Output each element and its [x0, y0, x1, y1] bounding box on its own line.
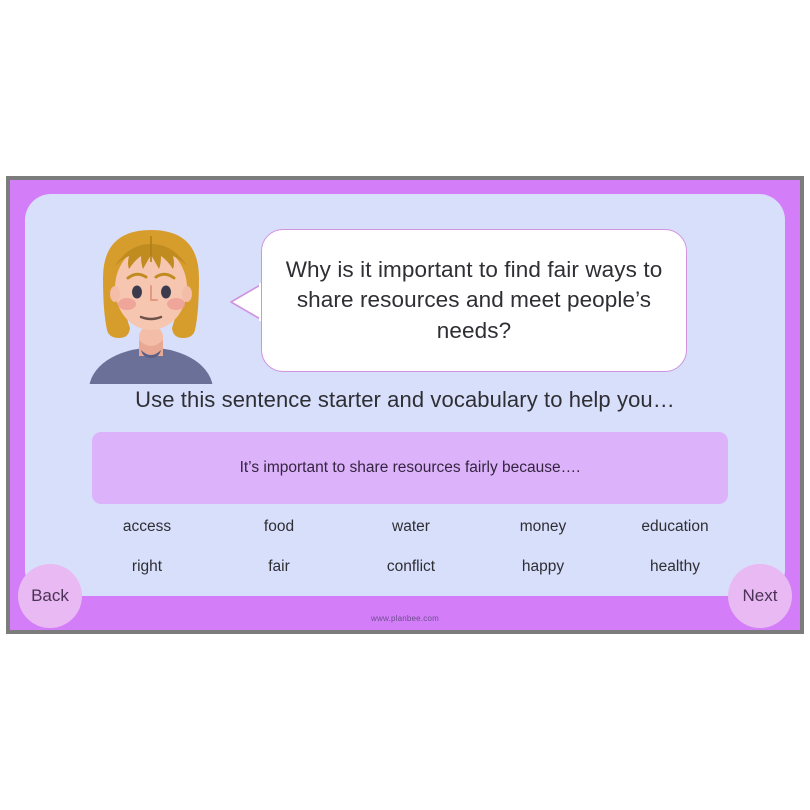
- speech-bubble-tail: [229, 283, 263, 321]
- sentence-starter-text: It’s important to share resources fairly…: [240, 459, 581, 477]
- slide-frame: Why is it important to find fair ways to…: [10, 180, 800, 630]
- vocab-word: food: [213, 518, 345, 536]
- blonde-girl-avatar: [81, 222, 221, 384]
- vocab-word: access: [81, 518, 213, 536]
- vocab-word: water: [345, 518, 477, 536]
- vocab-word: happy: [477, 558, 609, 576]
- vocabulary-grid: access food water money education right …: [81, 518, 741, 576]
- speech-bubble-question: Why is it important to find fair ways to…: [262, 255, 686, 347]
- vocab-word: right: [81, 558, 213, 576]
- vocab-word: fair: [213, 558, 345, 576]
- vocab-word: conflict: [345, 558, 477, 576]
- instruction-text: Use this sentence starter and vocabulary…: [25, 387, 785, 413]
- sentence-starter-box: It’s important to share resources fairly…: [92, 432, 728, 504]
- vocab-word: healthy: [609, 558, 741, 576]
- slide-outer-border: Why is it important to find fair ways to…: [6, 176, 804, 634]
- footer-url: www.planbee.com: [10, 614, 800, 623]
- vocab-word: money: [477, 518, 609, 536]
- vocab-word: education: [609, 518, 741, 536]
- speech-bubble-body: Why is it important to find fair ways to…: [261, 229, 687, 372]
- slide-viewer: Why is it important to find fair ways to…: [0, 0, 810, 810]
- slide-content-panel: Why is it important to find fair ways to…: [25, 194, 785, 596]
- speech-bubble: Why is it important to find fair ways to…: [229, 229, 687, 372]
